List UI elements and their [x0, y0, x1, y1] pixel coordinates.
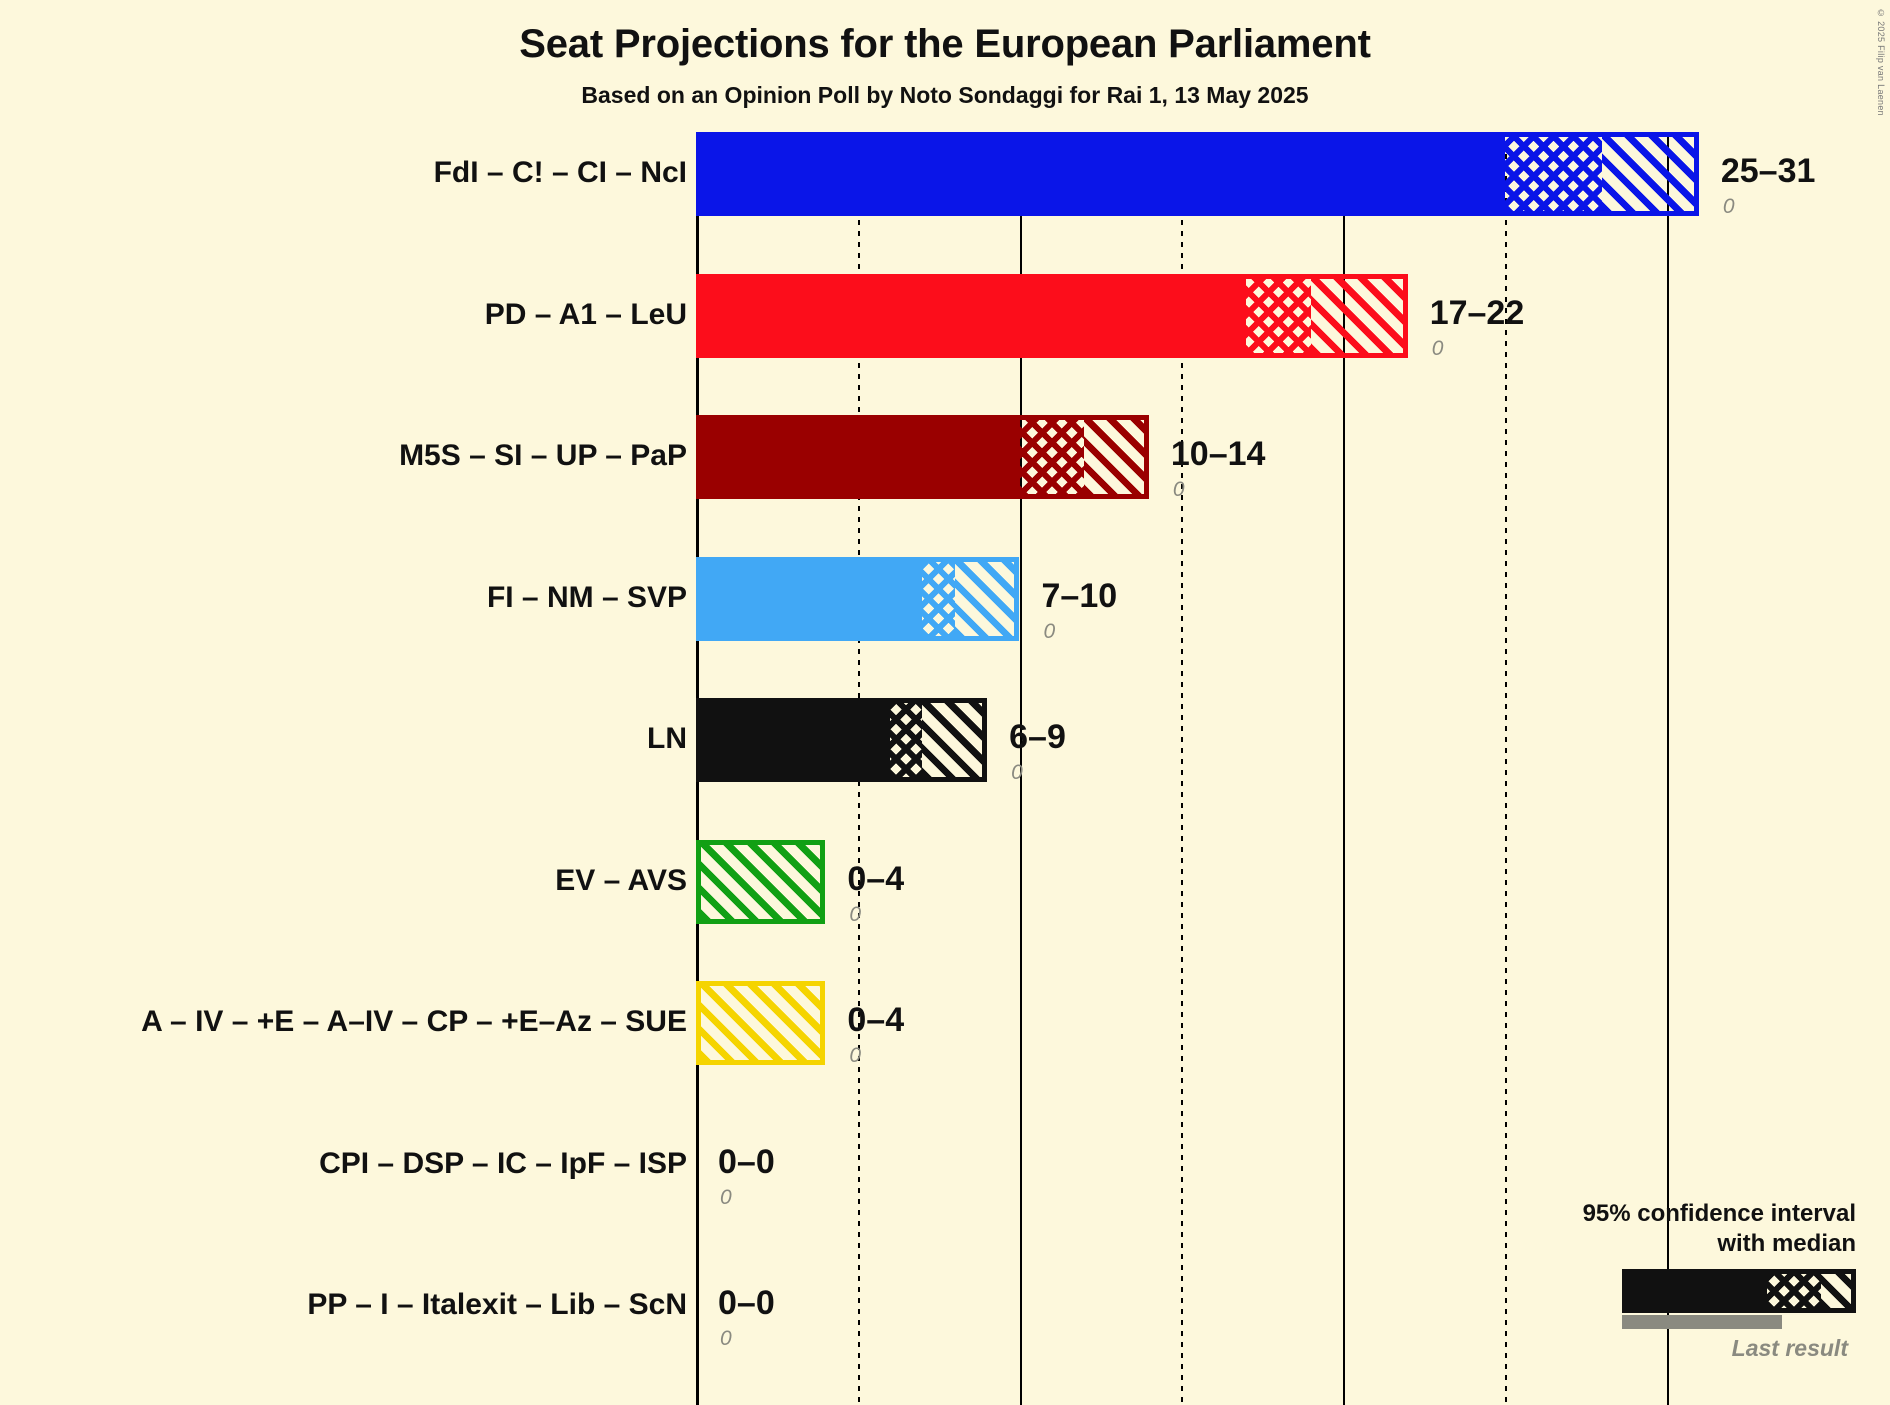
chart-row: LN6–90 — [0, 698, 1890, 782]
plot-area: FdI – C! – CI – NcI25–310PD – A1 – LeU17… — [0, 0, 1890, 1394]
chart-row: EV – AVS0–40 — [0, 840, 1890, 924]
bar-1 — [696, 132, 1699, 216]
legend-title-line2: with median — [1526, 1229, 1856, 1259]
bar-segment-hatch — [1084, 415, 1149, 499]
row-label-2: PD – A1 – LeU — [485, 300, 687, 330]
last-result-value-6: 0 — [849, 904, 861, 925]
legend-segment-crosshatch — [1767, 1269, 1821, 1313]
bar-segment-solid — [696, 415, 1020, 499]
bar-segment-hatch — [696, 981, 825, 1065]
bar-segment-crosshatch — [1246, 274, 1311, 358]
bar-segment-solid — [696, 557, 922, 641]
legend-last-result-bar — [1622, 1315, 1782, 1329]
value-range-6: 0–4 — [847, 862, 904, 896]
bar-segment-hatch — [922, 698, 987, 782]
value-range-1: 25–31 — [1721, 154, 1816, 188]
bar-segment-solid — [696, 132, 1505, 216]
bar-4 — [696, 557, 1020, 641]
chart-row: FdI – C! – CI – NcI25–310 — [0, 132, 1890, 216]
bar-segment-hatch — [1602, 132, 1699, 216]
last-result-value-2: 0 — [1432, 338, 1444, 359]
row-label-5: LN — [647, 724, 687, 754]
legend-title-line1: 95% confidence interval — [1526, 1199, 1856, 1229]
bar-segment-crosshatch — [1020, 415, 1085, 499]
chart-row: FI – NM – SVP7–100 — [0, 557, 1890, 641]
bar-3 — [696, 415, 1149, 499]
bar-segment-crosshatch — [890, 698, 922, 782]
legend-title: 95% confidence interval with median — [1526, 1199, 1856, 1259]
legend-segment-solid — [1622, 1269, 1767, 1313]
row-label-4: FI – NM – SVP — [487, 583, 687, 613]
bar-2 — [696, 274, 1408, 358]
bar-segment-hatch — [955, 557, 1020, 641]
row-label-1: FdI – C! – CI – NcI — [434, 158, 687, 188]
legend-last-result-label: Last result — [1526, 1335, 1848, 1362]
chart-legend: 95% confidence interval with median Last… — [1526, 1199, 1856, 1362]
value-range-4: 7–10 — [1042, 579, 1118, 613]
bar-7 — [696, 981, 825, 1065]
bar-segment-solid — [696, 274, 1246, 358]
chart-canvas: Seat Projections for the European Parlia… — [0, 0, 1890, 1394]
last-result-value-3: 0 — [1173, 479, 1185, 500]
value-range-9: 0–0 — [718, 1286, 775, 1320]
chart-row: PD – A1 – LeU17–220 — [0, 274, 1890, 358]
bar-segment-solid — [696, 698, 890, 782]
bar-6 — [696, 840, 825, 924]
last-result-value-5: 0 — [1011, 762, 1023, 783]
bar-segment-hatch — [1311, 274, 1408, 358]
row-label-9: PP – I – Italexit – Lib – ScN — [307, 1290, 687, 1320]
bar-segment-hatch — [696, 840, 825, 924]
last-result-value-9: 0 — [720, 1328, 732, 1349]
row-label-8: CPI – DSP – IC – IpF – ISP — [319, 1149, 687, 1179]
bar-segment-crosshatch — [922, 557, 954, 641]
bar-5 — [696, 698, 987, 782]
last-result-value-8: 0 — [720, 1187, 732, 1208]
row-label-7: A – IV – +E – A–IV – CP – +E–Az – SUE — [141, 1007, 687, 1037]
legend-segment-hatch — [1821, 1269, 1856, 1313]
value-range-5: 6–9 — [1009, 720, 1066, 754]
value-range-2: 17–22 — [1430, 296, 1525, 330]
row-label-3: M5S – SI – UP – PaP — [399, 441, 687, 471]
last-result-value-7: 0 — [849, 1045, 861, 1066]
chart-row: M5S – SI – UP – PaP10–140 — [0, 415, 1890, 499]
last-result-value-4: 0 — [1044, 621, 1056, 642]
bar-segment-crosshatch — [1505, 132, 1602, 216]
last-result-value-1: 0 — [1723, 196, 1735, 217]
legend-sample-bar — [1622, 1269, 1856, 1313]
value-range-3: 10–14 — [1171, 437, 1266, 471]
value-range-8: 0–0 — [718, 1145, 775, 1179]
chart-row: A – IV – +E – A–IV – CP – +E–Az – SUE0–4… — [0, 981, 1890, 1065]
row-label-6: EV – AVS — [555, 866, 687, 896]
chart-row: CPI – DSP – IC – IpF – ISP0–00 — [0, 1123, 1890, 1207]
value-range-7: 0–4 — [847, 1003, 904, 1037]
